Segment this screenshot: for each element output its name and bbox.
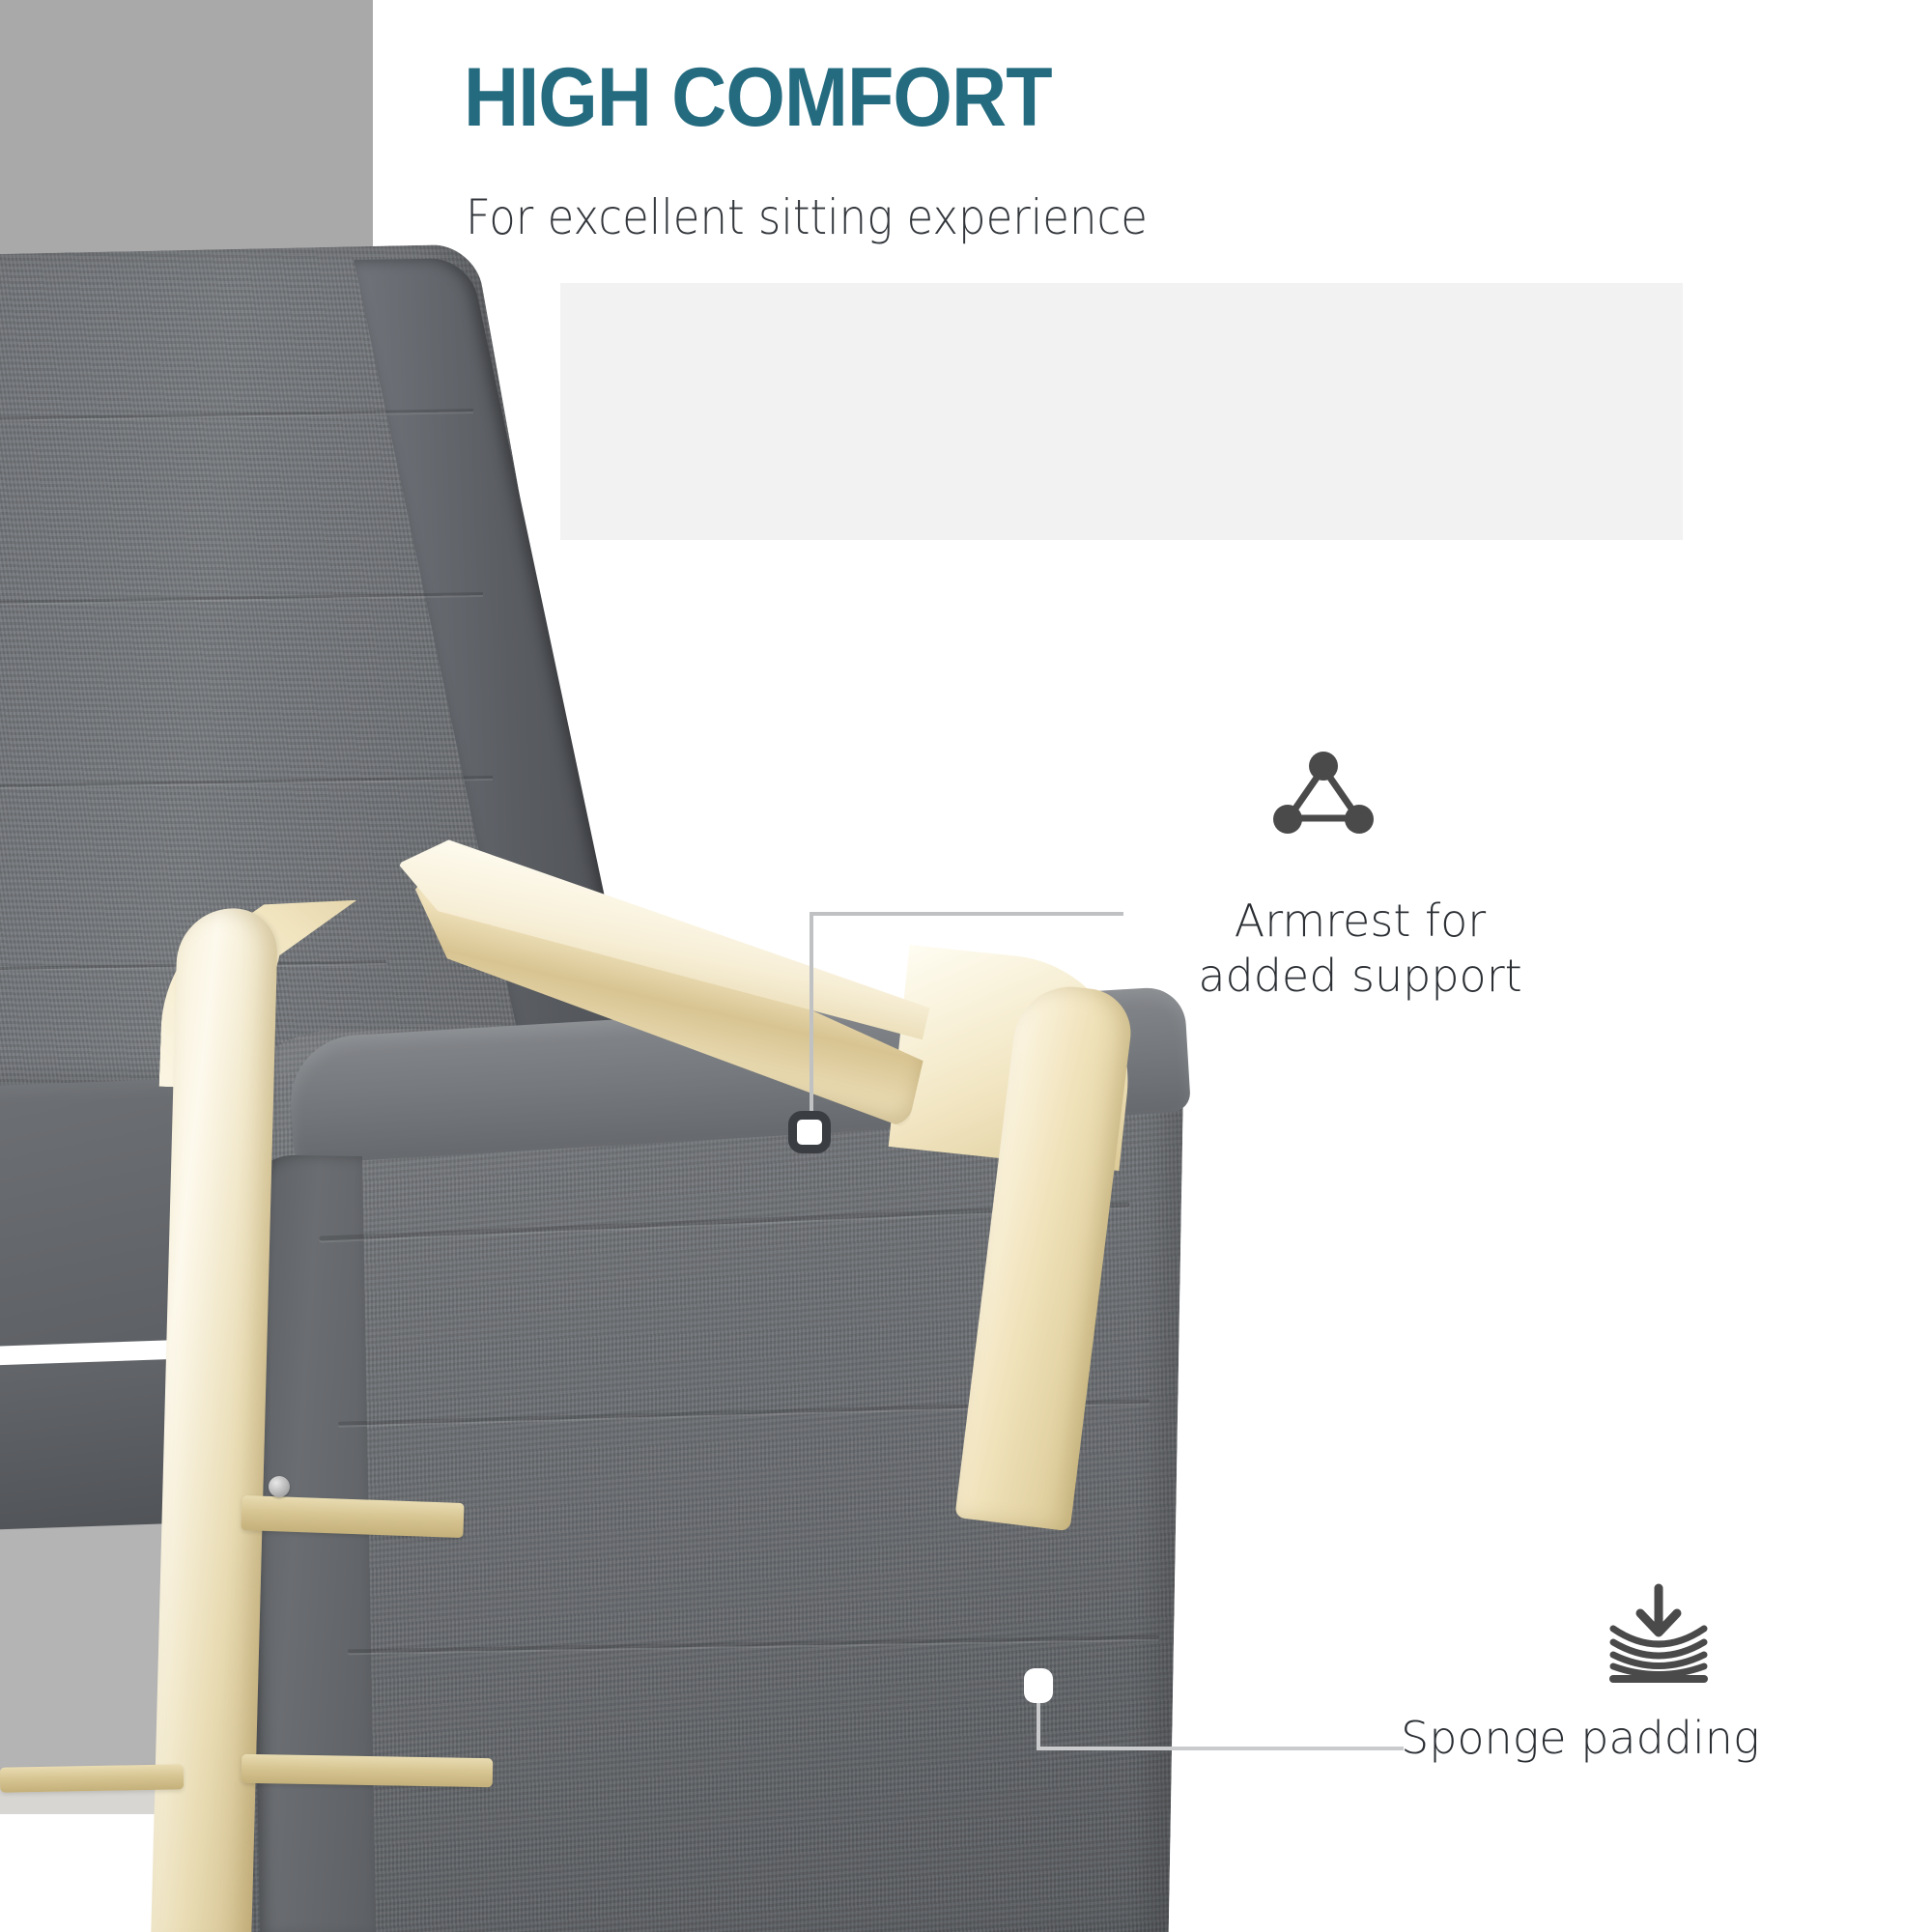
frame-rail-left	[0, 1764, 184, 1792]
content-panel	[560, 283, 1683, 540]
infographic-canvas: HIGH COMFORT For excellent sitting exper…	[0, 0, 1932, 1932]
armrest-callout-line1: Armrest for	[1138, 894, 1582, 949]
armrest-marker	[788, 1111, 831, 1153]
page-title: HIGH COMFORT	[464, 54, 1052, 141]
armrest-leader-line-vertical	[810, 912, 813, 1122]
sponge-marker	[1024, 1668, 1053, 1703]
armrest-leader-line-horizontal	[810, 912, 1123, 916]
sponge-callout-label: Sponge padding	[1401, 1712, 1760, 1764]
frame-screw	[269, 1476, 290, 1497]
armrest-callout-label: Armrest for added support	[1138, 894, 1582, 1004]
sponge-leader-line-horizontal	[1037, 1747, 1404, 1750]
compression-layers-icon	[1602, 1582, 1716, 1690]
triangle-nodes-icon	[1269, 749, 1378, 838]
armrest-callout-line2: added support	[1138, 949, 1582, 1004]
sponge-leader-line-vertical	[1037, 1696, 1040, 1750]
page-subtitle: For excellent sitting experience	[466, 189, 1148, 245]
frame-rail-lower	[241, 1754, 493, 1788]
